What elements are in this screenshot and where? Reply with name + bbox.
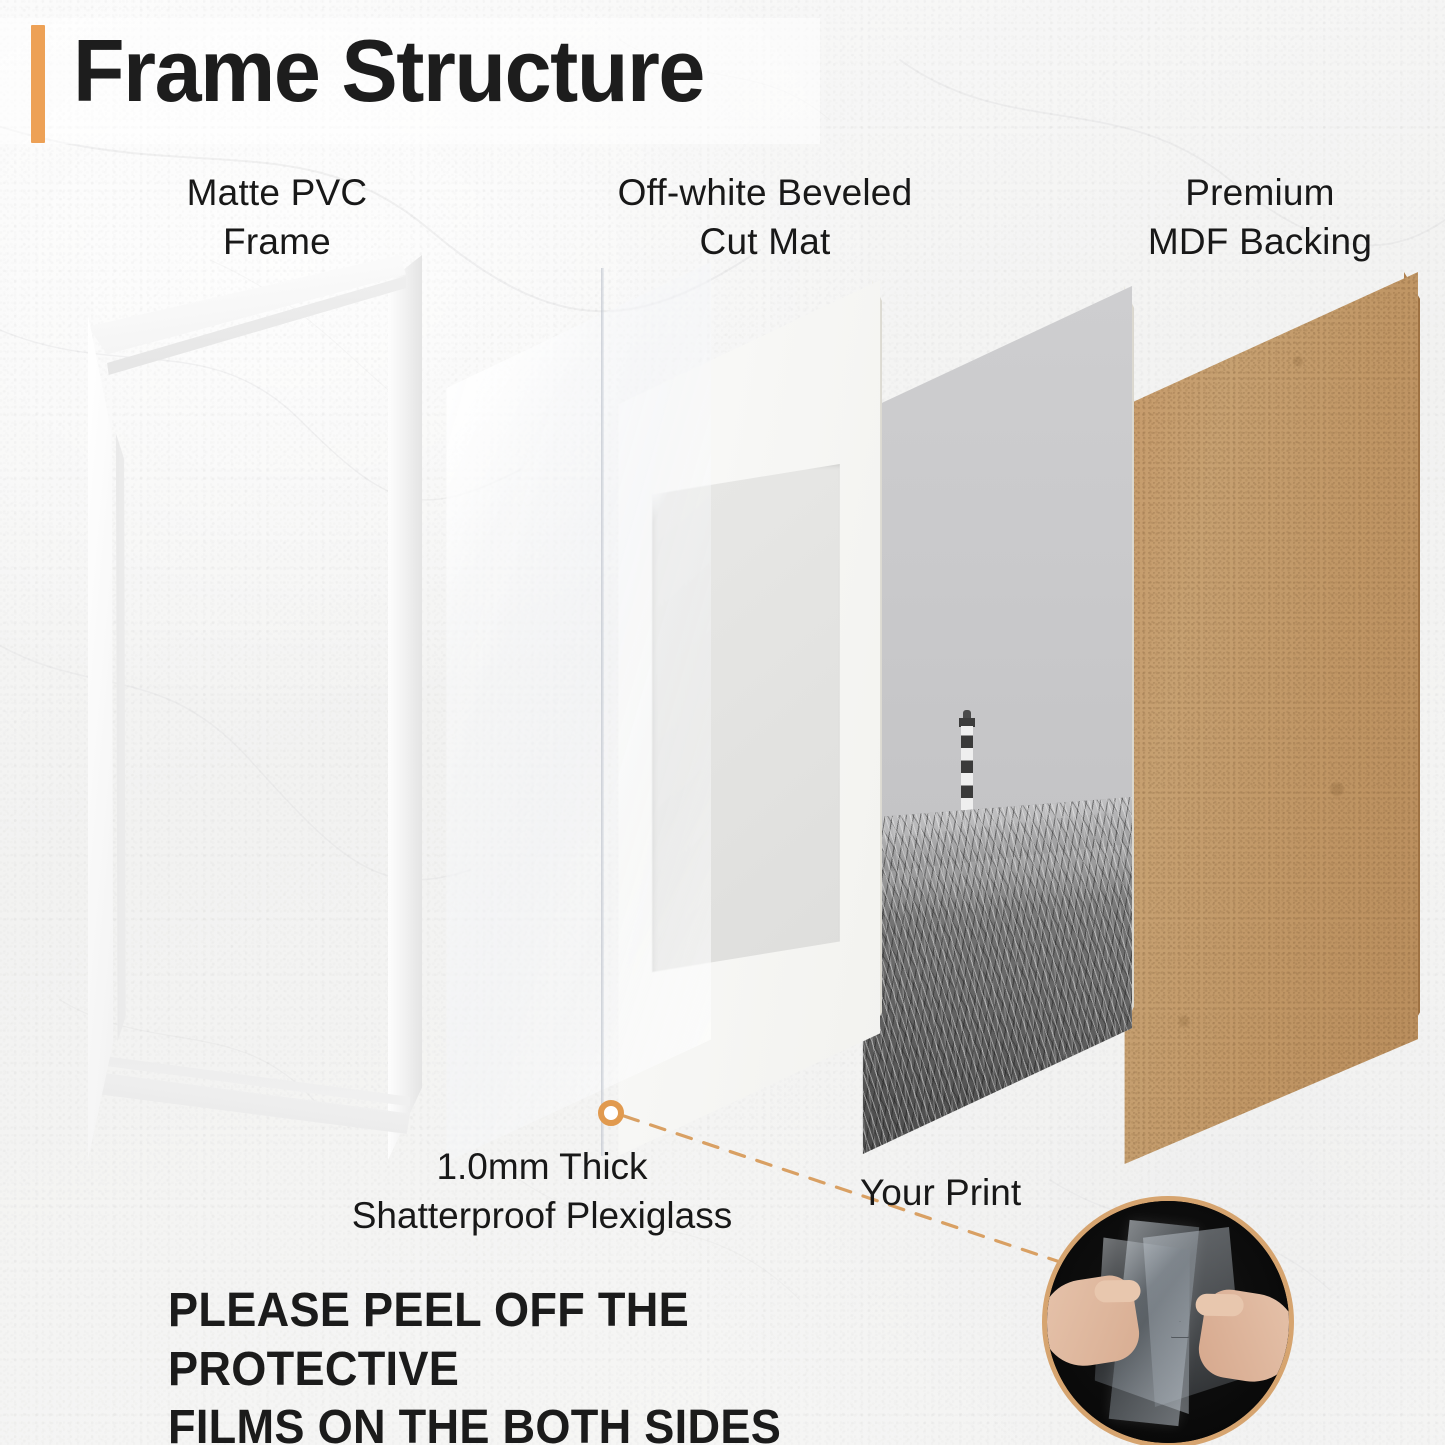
label-cut-mat: Off-white Beveled Cut Mat [530, 168, 1000, 266]
label-line: 1.0mm Thick [252, 1142, 832, 1191]
plexiglass-callout-dot [598, 1100, 624, 1126]
layer-plexiglass [440, 262, 711, 1162]
layer-mdf-backing [1118, 272, 1418, 1164]
mdf-texture [1118, 272, 1418, 1164]
page-title: Frame Structure [73, 24, 704, 117]
label-line: Cut Mat [530, 217, 1000, 266]
label-line: Off-white Beveled [530, 168, 1000, 217]
plexiglass-edge [601, 268, 604, 1156]
label-plexiglass: 1.0mm Thick Shatterproof Plexiglass [252, 1142, 832, 1240]
peel-film-inset-photo [1042, 1196, 1294, 1445]
plexiglass-reflection [441, 262, 711, 1162]
layer-print [856, 286, 1132, 1154]
warning-line-2: FILMS ON THE BOTH SIDES [168, 1399, 986, 1445]
label-line: Matte PVC [112, 168, 442, 217]
warning-line-1: PLEASE PEEL OFF THE PROTECTIVE [168, 1282, 986, 1399]
accent-bar [31, 25, 45, 143]
label-matte-pvc-frame: Matte PVC Frame [112, 168, 442, 266]
left-thumb [1094, 1280, 1140, 1303]
label-mdf-backing: Premium MDF Backing [1090, 168, 1430, 266]
warning-line-2-prefix: FILMS ON THE [168, 1401, 503, 1445]
label-line: Shatterproof Plexiglass [252, 1191, 832, 1240]
label-line: MDF Backing [1090, 217, 1430, 266]
label-line: Premium [1090, 168, 1430, 217]
frame-opening [134, 367, 402, 1067]
peel-warning-text: PLEASE PEEL OFF THE PROTECTIVE FILMS ON … [168, 1282, 986, 1445]
warning-highlight: BOTH SIDES [503, 1399, 782, 1445]
right-thumb [1195, 1294, 1243, 1317]
infographic-canvas: Frame Structure Matte PVC Frame Off-whit… [0, 0, 1445, 1445]
layer-pvc-frame [88, 255, 428, 1160]
